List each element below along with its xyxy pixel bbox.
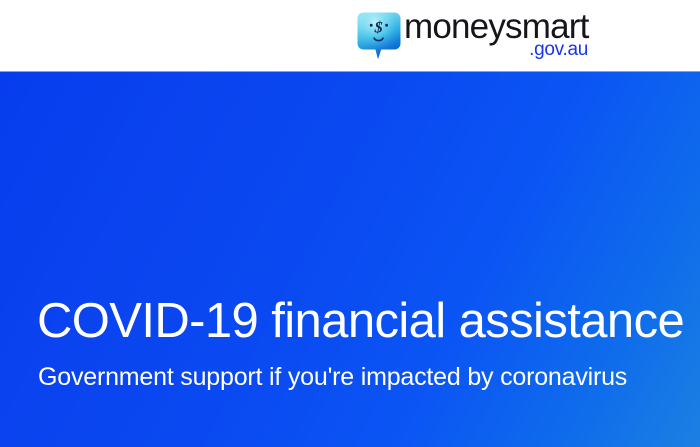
site-header: $ moneysmart .gov.au	[0, 0, 700, 71]
page-root: $ moneysmart .gov.au COVID-19 financial …	[0, 0, 700, 447]
page-subtitle: Government support if you're impacted by…	[38, 362, 627, 392]
moneysmart-logo-link[interactable]: $ moneysmart .gov.au	[356, 9, 588, 64]
page-title: COVID-19 financial assistance	[37, 294, 684, 348]
moneysmart-wordmark: moneysmart .gov.au	[404, 8, 590, 64]
moneysmart-speech-bubble-dollar-face-icon: $	[356, 11, 402, 61]
hero-banner: COVID-19 financial assistance Government…	[0, 72, 700, 447]
svg-text:$: $	[374, 20, 383, 37]
wordmark-gov-au: .gov.au	[529, 39, 588, 60]
hero-content: COVID-19 financial assistance Government…	[37, 72, 680, 447]
